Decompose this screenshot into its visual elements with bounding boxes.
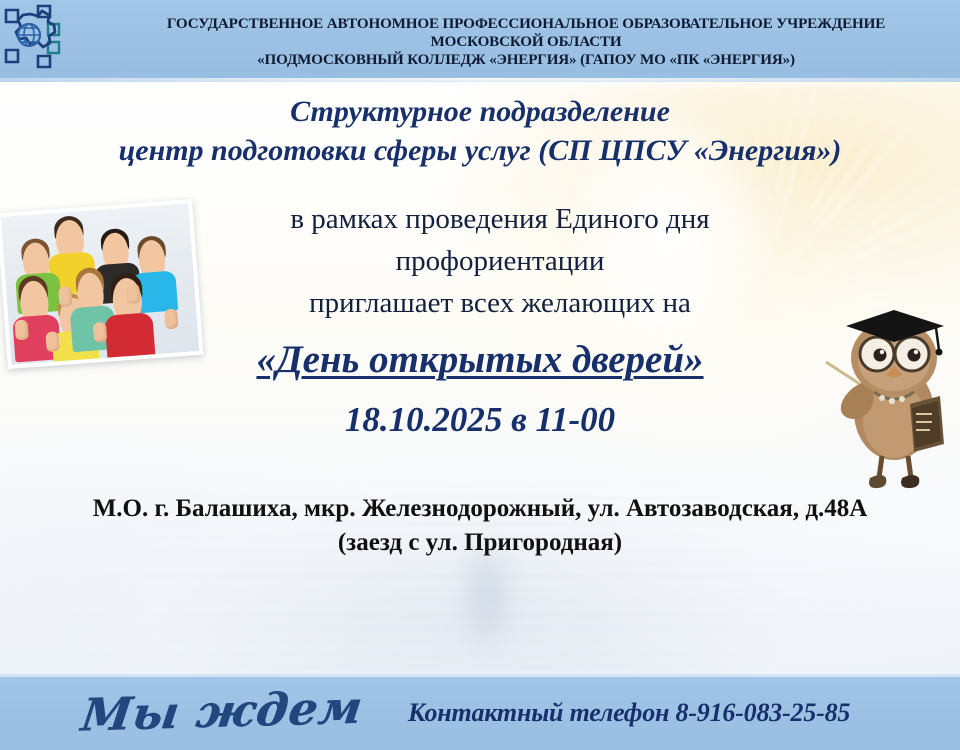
gear-globe-logo-icon — [4, 4, 78, 76]
venue-address: М.О. г. Балашиха, мкр. Железнодорожный, … — [20, 492, 940, 560]
header-line-2: МОСКОВСКОЙ ОБЛАСТИ — [92, 34, 960, 52]
address-line-2: (заезд с ул. Пригородная) — [20, 526, 940, 560]
title-line-2: центр подготовки сферы услуг (СП ЦПСУ «Э… — [30, 131, 930, 170]
we-are-waiting-slogan: Мы ждем Вас! — [69, 673, 418, 750]
title-line-1: Структурное подразделение — [30, 92, 930, 131]
footer-divider — [0, 674, 960, 677]
invitation-line-1: в рамках проведения Единого дня — [150, 198, 850, 240]
invitation-line-3: приглашает всех желающих на — [150, 282, 850, 324]
address-line-1: М.О. г. Балашиха, мкр. Железнодорожный, … — [20, 492, 940, 526]
event-date: 18.10.2025 в 11-00 — [30, 398, 930, 442]
invitation-line-2: профориентации — [150, 240, 850, 282]
announcement-poster: ГОСУДАРСТВЕННОЕ АВТОНОМНОЕ ПРОФЕССИОНАЛЬ… — [0, 0, 960, 750]
header-line-3: «ПОДМОСКОВНЫЙ КОЛЛЕДЖ «ЭНЕРГИЯ» (ГАПОУ М… — [92, 52, 960, 70]
header-line-1: ГОСУДАРСТВЕННОЕ АВТОНОМНОЕ ПРОФЕССИОНАЛЬ… — [92, 16, 960, 34]
page-title: Структурное подразделение центр подготов… — [30, 92, 930, 170]
invitation-text: в рамках проведения Единого дня профорие… — [150, 198, 850, 324]
event-name: «День открытых дверей» — [30, 337, 930, 383]
header-institution-title: ГОСУДАРСТВЕННОЕ АВТОНОМНОЕ ПРОФЕССИОНАЛЬ… — [92, 16, 960, 70]
contact-phone[interactable]: Контактный телефон 8-916-083-25-85 — [408, 697, 953, 729]
